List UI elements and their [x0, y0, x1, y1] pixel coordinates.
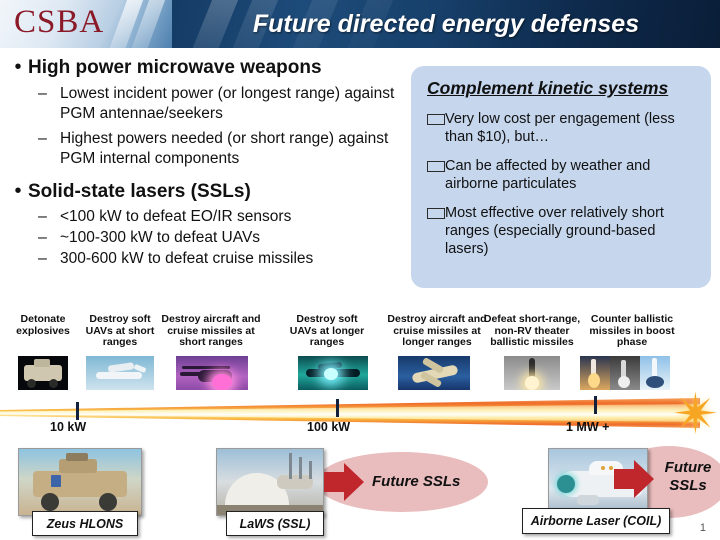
future-ssl-label: Future SSLs	[660, 459, 716, 495]
bullet-dot-icon: •	[8, 56, 28, 78]
checkbox-square-icon	[427, 114, 445, 125]
sub-bullet: – 300-600 kW to defeat cruise missiles	[38, 249, 406, 269]
effect-caption: Counter ballistic missiles in boost phas…	[578, 314, 686, 349]
effects-strip: Detonate explosives Destroy soft UAVs at…	[0, 312, 720, 400]
sub-bullet-text: Lowest incident power (or longest range)…	[60, 84, 406, 124]
effect-caption: Destroy aircraft and cruise missiles at …	[158, 314, 264, 349]
page-number: 1	[700, 522, 706, 534]
system-label: LaWS (SSL)	[226, 511, 324, 536]
sub-bullet: – Lowest incident power (or longest rang…	[38, 84, 406, 124]
dash-icon: –	[38, 84, 60, 104]
infobox-item: Can be affected by weather and airborne …	[427, 157, 711, 193]
helicopter-photo	[176, 356, 248, 390]
scale-tick-label: 1 MW +	[566, 420, 609, 434]
humvee-photo	[18, 356, 68, 390]
sub-bullet: – <100 kW to defeat EO/IR sensors	[38, 207, 406, 227]
infobox-item-text: Very low cost per engagement (less than …	[445, 110, 699, 146]
sub-bullet-text: <100 kW to defeat EO/IR sensors	[60, 207, 291, 227]
effect-caption: Destroy soft UAVs at short ranges	[80, 314, 160, 349]
scale-tick	[76, 402, 79, 420]
uav-ir-photo	[298, 356, 368, 390]
burst-icon: ✴	[668, 386, 720, 442]
infobox-heading: Complement kinetic systems	[411, 66, 711, 99]
scale-tick	[336, 399, 339, 417]
cruise-missile-photo	[398, 356, 470, 390]
sub-bullet-text: Highest powers needed (or short range) a…	[60, 129, 406, 169]
zeus-hlons-photo	[18, 448, 142, 516]
future-ssl-label: Future SSLs	[372, 473, 482, 491]
csba-logo-plate: CSBA	[0, 0, 172, 48]
effect-caption: Destroy aircraft and cruise missiles at …	[382, 314, 492, 349]
infobox-item: Most effective over relatively short ran…	[427, 204, 711, 258]
sub-bullet: – Highest powers needed (or short range)…	[38, 129, 406, 169]
future-ssl-arrow-icon	[614, 460, 656, 498]
scale-tick-label: 10 kW	[50, 420, 86, 434]
slide: CSBA Future directed energy defenses • H…	[0, 0, 720, 540]
ballistic-missile-photo	[504, 356, 560, 390]
effect-caption: Destroy soft UAVs at longer ranges	[286, 314, 368, 349]
dash-icon: –	[38, 228, 60, 248]
bullet-content: • High power microwave weapons – Lowest …	[8, 56, 406, 269]
bullet-hpm-title: High power microwave weapons	[28, 56, 322, 79]
sub-bullet: – ~100-300 kW to defeat UAVs	[38, 228, 406, 248]
complement-kinetic-systems-box: Complement kinetic systems Very low cost…	[411, 66, 711, 288]
checkbox-square-icon	[427, 208, 445, 219]
bullet-ssl-title: Solid-state lasers (SSLs)	[28, 180, 251, 203]
page-title: Future directed energy defenses	[172, 0, 720, 48]
system-label: Zeus HLONS	[32, 511, 138, 536]
sub-bullet-text: ~100-300 kW to defeat UAVs	[60, 228, 260, 248]
future-ssl-arrow-icon	[324, 463, 366, 501]
bullet-dot-icon: •	[8, 180, 28, 202]
dash-icon: –	[38, 249, 60, 269]
dash-icon: –	[38, 129, 60, 149]
bullet-ssl: • Solid-state lasers (SSLs)	[8, 180, 406, 203]
sub-bullet-text: 300-600 kW to defeat cruise missiles	[60, 249, 313, 269]
checkbox-square-icon	[427, 161, 445, 172]
system-label: Airborne Laser (COIL)	[522, 508, 670, 534]
scale-tick-label: 100 kW	[307, 420, 350, 434]
laws-ssl-photo	[216, 448, 324, 516]
boost-phase-photo	[580, 356, 670, 390]
dash-icon: –	[38, 207, 60, 227]
csba-logo-text: CSBA	[14, 4, 104, 41]
infobox-item: Very low cost per engagement (less than …	[427, 110, 711, 146]
effect-caption: Defeat short-range, non-RV theater balli…	[478, 314, 586, 349]
uav-photo	[86, 356, 154, 390]
infobox-item-text: Can be affected by weather and airborne …	[445, 157, 699, 193]
infobox-item-text: Most effective over relatively short ran…	[445, 204, 699, 258]
slide-header: CSBA Future directed energy defenses	[0, 0, 720, 48]
scale-tick	[594, 396, 597, 414]
bullet-hpm: • High power microwave weapons	[8, 56, 406, 79]
power-scale-beam: ✴ 10 kW 100 kW 1 MW +	[0, 398, 720, 440]
effect-caption: Detonate explosives	[6, 314, 80, 337]
